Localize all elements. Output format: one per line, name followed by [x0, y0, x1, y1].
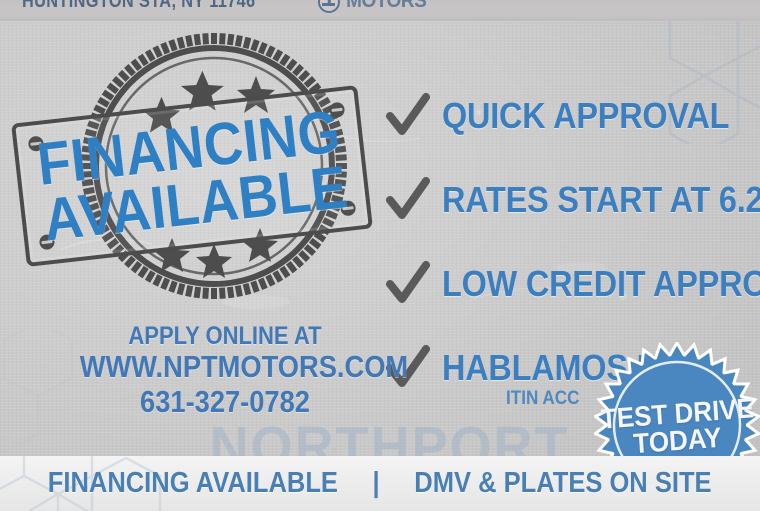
footer-separator: |: [372, 467, 379, 500]
checklist-item-label: QUICK APPROVAL: [442, 95, 729, 137]
checklist-item: RATES START AT 6.2%: [386, 158, 758, 242]
steering-wheel-icon: [318, 0, 340, 13]
checklist-item-label: RATES START AT 6.2%: [442, 179, 760, 221]
advertisement-canvas: HUNTINGTON STA, NY 11746 MOTORS: [0, 0, 760, 511]
top-address-strip: HUNTINGTON STA, NY 11746 MOTORS: [0, 0, 760, 21]
financing-stamp: FINANCING AVAILABLE: [8, 26, 380, 318]
checklist-item: QUICK APPROVAL: [386, 74, 758, 158]
check-icon: [386, 174, 430, 226]
footer-left-label: FINANCING AVAILABLE: [48, 467, 338, 500]
dealer-address: HUNTINGTON STA, NY 11746: [22, 0, 255, 13]
brand-wordmark: MOTORS: [346, 0, 426, 13]
checklist-item-sublabel: ITIN ACC: [506, 388, 579, 410]
checklist-item: LOW CREDIT APPROVED: [386, 242, 758, 326]
check-icon: [386, 90, 430, 142]
apply-online-label: APPLY ONLINE AT: [80, 322, 370, 350]
checklist-item-label: LOW CREDIT APPROVED: [442, 263, 760, 305]
footer-bar: FINANCING AVAILABLE | DMV & PLATES ON SI…: [0, 456, 760, 511]
footer-right-label: DMV & PLATES ON SITE: [414, 467, 711, 500]
contact-block: APPLY ONLINE AT WWW.NPTMOTORS.COM 631-32…: [60, 322, 390, 419]
footer-text: FINANCING AVAILABLE | DMV & PLATES ON SI…: [0, 456, 760, 511]
brand-logo: MOTORS: [318, 0, 428, 13]
check-icon: [386, 258, 430, 310]
badge-line-2: TODAY: [632, 424, 722, 458]
website-url[interactable]: WWW.NPTMOTORS.COM: [80, 350, 370, 385]
